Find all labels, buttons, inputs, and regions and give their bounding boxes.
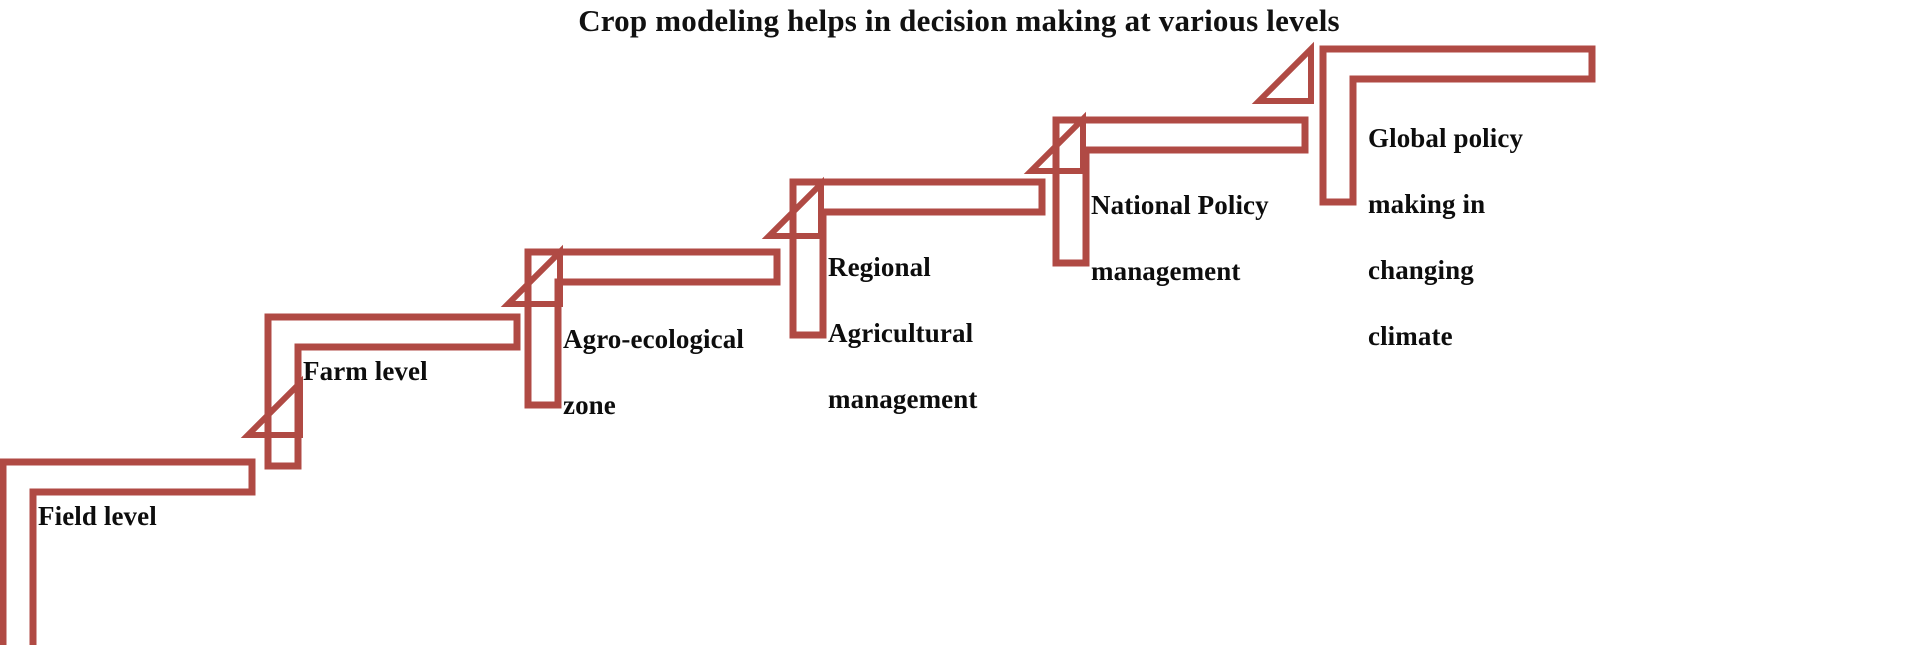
step-4-label: Regional Agricultural management [828, 218, 1053, 416]
step-6-label-line-3: changing [1368, 255, 1474, 285]
step-1-bracket-shape [0, 455, 270, 645]
staircase-step-2[interactable]: Farm level [265, 310, 525, 470]
step-5-triangle-icon [1255, 45, 1319, 109]
step-4-label-line-2: Agricultural [828, 318, 973, 348]
step-6-label-line-1: Global policy [1368, 123, 1523, 153]
step-4-label-line-3: management [828, 384, 977, 414]
page-title: Crop modeling helps in decision making a… [0, 2, 1918, 40]
step-3-label-line-1: Agro-ecological [563, 324, 744, 354]
step-3-label-line-2: zone [563, 390, 616, 420]
staircase-step-3[interactable]: Agro-ecological zone [525, 245, 785, 410]
step-6-label-line-2: making in [1368, 189, 1485, 219]
staircase-step-1[interactable]: Field level [0, 455, 260, 645]
step-1-label: Field level [38, 500, 248, 533]
step-2-bracket-shape [265, 310, 535, 480]
step-6-label: Global policy making in changing climate [1368, 89, 1578, 353]
diagram-canvas: Crop modeling helps in decision making a… [0, 0, 1918, 645]
step-5-label-line-2: management [1091, 256, 1240, 286]
staircase-step-6[interactable]: Global policy making in changing climate [1320, 42, 1590, 207]
staircase-step-5[interactable]: National Policy management [1053, 113, 1313, 268]
step-5-label-line-1: National Policy [1091, 190, 1269, 220]
step-5-label: National Policy management [1091, 156, 1316, 288]
step-6-label-line-4: climate [1368, 321, 1453, 351]
step-4-label-line-1: Regional [828, 252, 931, 282]
staircase-step-4[interactable]: Regional Agricultural management [790, 175, 1050, 340]
step-3-label: Agro-ecological zone [563, 290, 783, 422]
step-2-label: Farm level [303, 355, 518, 388]
